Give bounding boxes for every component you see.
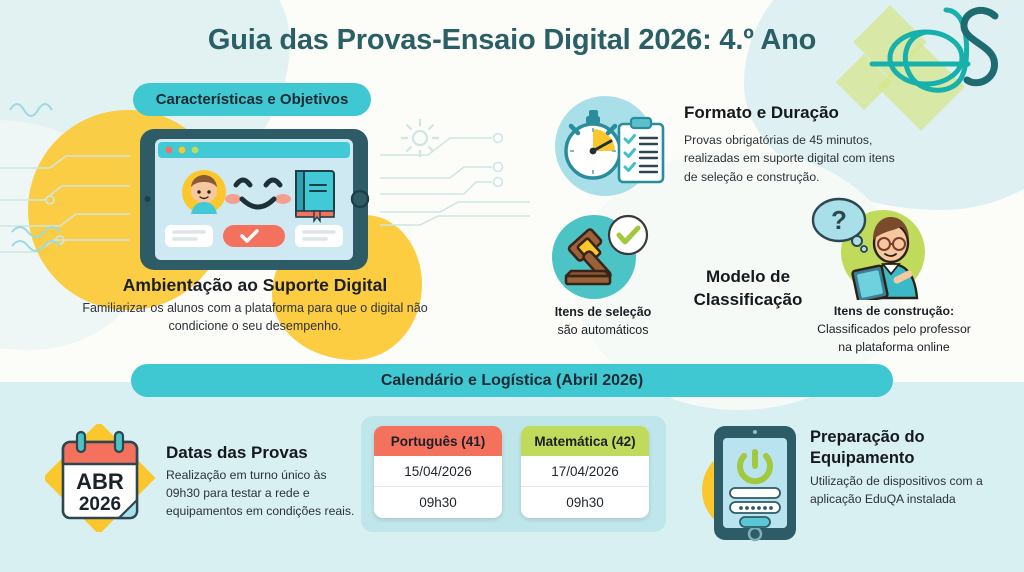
exam-subject-label: Português (41) [374, 426, 502, 456]
exam-date-value: 17/04/2026 [521, 456, 649, 487]
exam-time-value: 09h30 [521, 487, 649, 518]
svg-text:?: ? [831, 205, 847, 235]
features-heading: Ambientação ao Suporte Digital [70, 275, 440, 296]
stopwatch-checklist-icon [545, 94, 671, 198]
tablet-illustration [138, 127, 370, 272]
construction-caption-line2: Classificados pelo professor [817, 322, 971, 336]
construction-caption-bold: Itens de construção: [834, 304, 954, 318]
dates-title: Datas das Provas [166, 443, 308, 463]
calendar-year-label: 2026 [79, 494, 121, 515]
selection-caption-bold: Itens de seleção [555, 305, 652, 319]
exam-date-value: 15/04/2026 [374, 456, 502, 487]
tablet-power-icon [700, 418, 808, 548]
exam-card-matematica[interactable]: Matemática (42) 17/04/2026 09h30 [521, 426, 649, 518]
selection-caption: Itens de seleção são automáticos [528, 303, 678, 339]
dates-body: Realização em turno único às 09h30 para … [166, 466, 361, 520]
exam-time-value: 09h30 [374, 487, 502, 518]
equipment-title: Preparação do Equipamento [810, 427, 1000, 468]
calendar-icon: ABR 2026 [45, 424, 161, 532]
badge-features: Características e Objetivos [133, 83, 371, 116]
equipment-body: Utilização de dispositivos com a aplicaç… [810, 472, 1005, 508]
construction-caption-line3: na plataforma online [838, 340, 949, 354]
construction-caption: Itens de construção: Classificados pelo … [794, 303, 994, 356]
calendar-month-label: ABR [76, 469, 124, 494]
es-logo-icon [864, 2, 1014, 122]
exam-card-portugues[interactable]: Português (41) 15/04/2026 09h30 [374, 426, 502, 518]
format-title: Formato e Duração [684, 103, 839, 123]
format-body: Provas obrigatórias de 45 minutos, reali… [684, 131, 899, 186]
badge-calendar: Calendário e Logística (Abril 2026) [131, 364, 893, 397]
exam-subject-label: Matemática (42) [521, 426, 649, 456]
infographic-page: Guia das Provas-Ensaio Digital 2026: 4.º… [0, 0, 1024, 572]
selection-caption-rest: são automáticos [557, 323, 648, 337]
features-body: Familiarizar os alunos com a plataforma … [70, 299, 440, 335]
teacher-tablet-icon: ? [805, 196, 933, 300]
gavel-icon [548, 209, 652, 301]
